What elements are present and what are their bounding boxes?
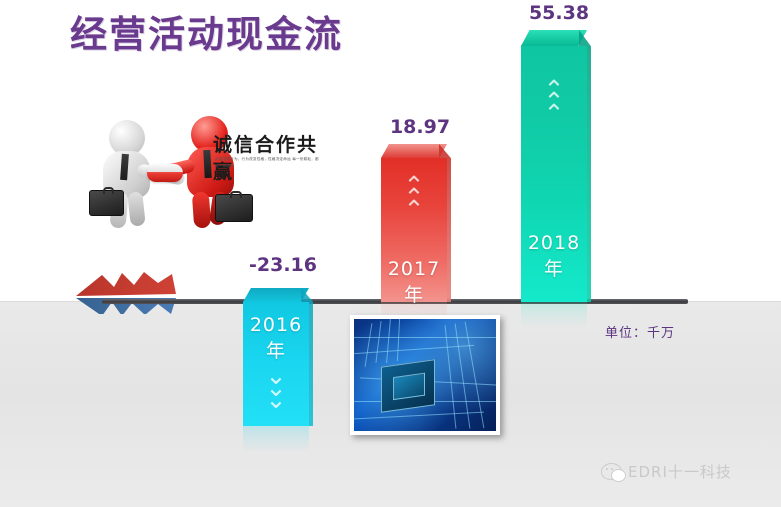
bar-2018[interactable]: ⌃⌃⌃ 2018年 <box>521 46 587 302</box>
slide-canvas: 经营活动现金流 诚信合作共赢 点滴发掘行为，行为改变性格，性格决定命运 每一份耕… <box>0 0 781 507</box>
double-chevron-up-icon-2018: ⌃⌃⌃ <box>521 84 587 120</box>
bar-value-2016: -23.16 <box>233 254 333 276</box>
trace <box>397 319 400 361</box>
trace <box>386 319 391 363</box>
bar-label-2017: 2017年 <box>381 258 447 307</box>
figure-red-leg-front <box>192 191 211 228</box>
double-chevron-up-icon-2017: ⌃⌃⌃ <box>381 180 447 216</box>
bar-label-2018: 2018年 <box>521 232 587 281</box>
figure-red-tie <box>203 150 211 178</box>
illustration-subtext: 点滴发掘行为，行为改变性格，性格决定命运 每一份耕耘，都有一份收获 <box>215 156 319 170</box>
bar-label-2016: 2016年 <box>243 314 309 363</box>
bar-value-2018: 55.38 <box>513 2 605 24</box>
trace <box>354 345 474 354</box>
chip-photo-inner <box>354 319 496 431</box>
clasped-hands <box>147 164 183 182</box>
feather-fletching-icon <box>72 272 180 314</box>
unit-note: 单位：千万 <box>605 322 675 341</box>
watermark: EDRI十一科技 <box>601 461 732 482</box>
double-chevron-down-icon-2016: ⌄⌄⌄ <box>243 370 309 406</box>
trace <box>375 321 381 363</box>
bar-2016-top-face <box>243 288 309 302</box>
bar-2018-top-face <box>521 30 587 46</box>
bar-2016-reflection <box>243 426 309 452</box>
handshake-cooperation-image: 诚信合作共赢 点滴发掘行为，行为改变性格，性格决定命运 每一份耕耘，都有一份收获 <box>85 112 320 227</box>
bar-2016[interactable]: 2016年 ⌄⌄⌄ <box>243 302 309 426</box>
bar-2017[interactable]: ⌃⌃⌃ 2017年 <box>381 158 447 302</box>
bar-value-2017: 18.97 <box>375 116 465 138</box>
page-title: 经营活动现金流 <box>70 4 343 58</box>
cpu-chip-icon <box>381 359 435 413</box>
figure-white-leg-back <box>127 191 145 226</box>
briefcase-red <box>215 194 253 222</box>
feather-arrow <box>72 272 688 314</box>
briefcase-white <box>89 190 124 216</box>
circuit-board-chip-photo <box>350 315 500 435</box>
bar-2017-top-face <box>381 144 447 158</box>
watermark-label: EDRI十一科技 <box>628 461 732 482</box>
trace <box>365 323 373 367</box>
trace <box>354 337 496 338</box>
wechat-icon <box>601 463 622 480</box>
trace <box>354 412 484 420</box>
bar-2018-reflection <box>521 302 587 328</box>
